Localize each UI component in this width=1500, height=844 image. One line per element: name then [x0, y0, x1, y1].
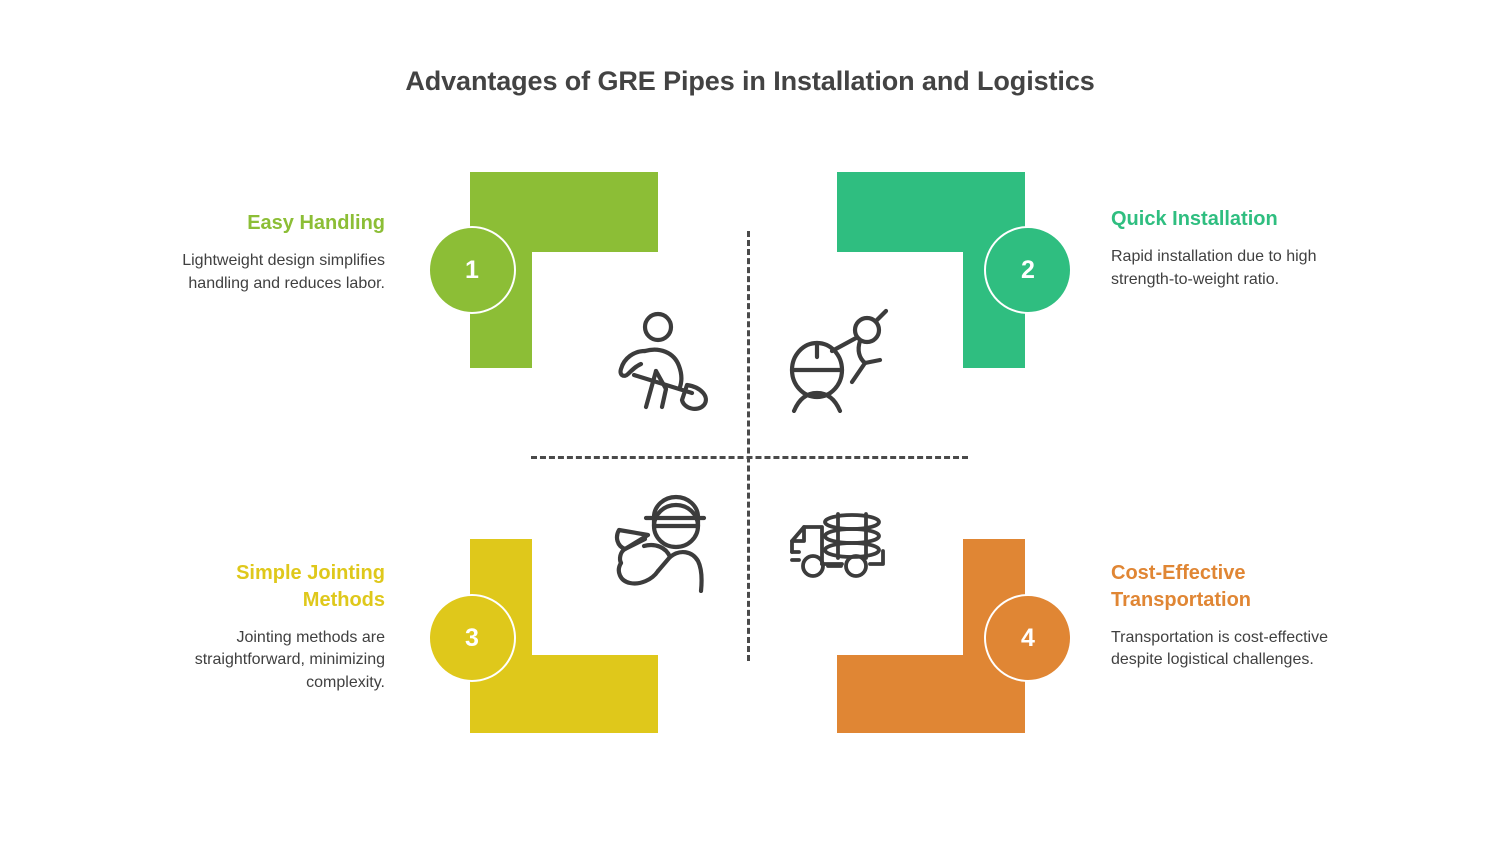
- quadrant-3-body: Jointing methods are straightforward, mi…: [153, 627, 385, 695]
- pipe-truck-icon: [786, 508, 890, 580]
- quadrant-2-number-badge[interactable]: 2: [984, 226, 1072, 314]
- quadrant-3-heading: Simple Jointing Methods: [153, 560, 385, 614]
- quadrant-4-number-badge[interactable]: 4: [984, 594, 1072, 682]
- quadrant-2-number: 2: [1021, 256, 1035, 285]
- quadrant-3-number: 3: [465, 624, 479, 653]
- quadrant-2-heading: Quick Installation: [1111, 206, 1343, 233]
- quadrant-3-number-badge[interactable]: 3: [428, 594, 516, 682]
- quadrant-2-body: Rapid installation due to high strength-…: [1111, 246, 1343, 291]
- vertical-dashed-divider: [747, 231, 750, 661]
- quadrant-1-number: 1: [465, 256, 479, 285]
- page-title: Advantages of GRE Pipes in Installation …: [0, 66, 1500, 97]
- quadrant-4-number: 4: [1021, 624, 1035, 653]
- quadrant-1-body: Lightweight design simplifies handling a…: [153, 250, 385, 295]
- quadrant-1-text: Easy Handling Lightweight design simplif…: [153, 210, 385, 295]
- worker-surveying-icon: [786, 308, 890, 413]
- quadrant-1-heading: Easy Handling: [153, 210, 385, 237]
- worker-with-tool-icon: [608, 489, 718, 593]
- quadrant-3-text: Simple Jointing Methods Jointing methods…: [153, 560, 385, 695]
- quadrant-2-text: Quick Installation Rapid installation du…: [1111, 206, 1343, 291]
- quadrant-4-heading: Cost-Effective Transportation: [1111, 560, 1343, 614]
- worker-with-shovel-icon: [604, 311, 714, 413]
- quadrant-4-text: Cost-Effective Transportation Transporta…: [1111, 560, 1343, 672]
- horizontal-dashed-divider: [531, 456, 968, 459]
- infographic-canvas: Advantages of GRE Pipes in Installation …: [0, 0, 1500, 844]
- quadrant-1-number-badge[interactable]: 1: [428, 226, 516, 314]
- quadrant-4-body: Transportation is cost-effective despite…: [1111, 627, 1343, 672]
